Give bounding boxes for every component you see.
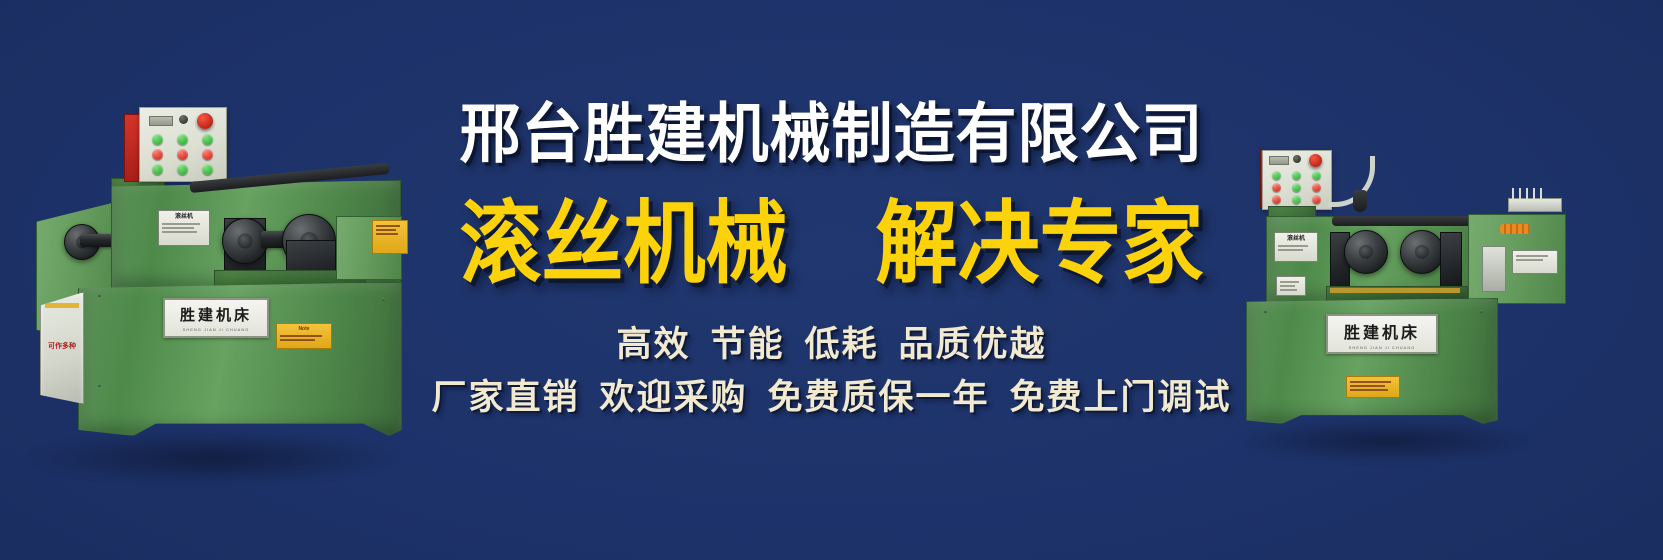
machine-left-spec-plate: 滚丝机	[158, 210, 210, 246]
machine-right-panel-button-9	[1312, 195, 1321, 204]
machine-right-warning-label	[1346, 376, 1400, 398]
machine-right-orange-connectors	[1500, 224, 1530, 234]
machine-right-spec-plate: 滚丝机	[1274, 232, 1318, 262]
machine-left-control-panel	[139, 107, 227, 182]
machine-right-panel-button-6	[1312, 183, 1321, 192]
machine-right-panel-button-1	[1272, 171, 1281, 180]
machine-left-ground-shadow	[28, 432, 398, 484]
machine-right-panel-selector-knob	[1293, 155, 1301, 163]
machine-right-head-bracket-2	[1440, 232, 1462, 290]
machine-left-cabinet-stripe	[45, 303, 79, 308]
machine-left-side-cabinet: 可作多种	[40, 292, 84, 404]
machine-right-panel-cable	[1328, 156, 1375, 207]
promotional-banner: 滚丝机 可作多种 胜建机床 SHENG JIAN JI CHUAN	[0, 0, 1663, 560]
machine-left-panel-button-6	[202, 149, 213, 160]
machine-right-roller-head-1	[1344, 230, 1388, 274]
machine-right-cable-boot	[1353, 190, 1367, 212]
machine-right-ground-shadow	[1238, 420, 1538, 462]
machine-right-panel-button-4	[1272, 183, 1281, 192]
machine-right-roller-head-2	[1400, 230, 1444, 274]
machine-left-nameplate: 胜建机床 SHENG JIAN JI CHUANG	[163, 298, 269, 338]
machine-right-bolt-2	[1480, 310, 1483, 313]
machine-right-spec-plate-title: 滚丝机	[1278, 235, 1314, 243]
machine-left-panel-button-8	[177, 164, 188, 175]
machine-left-nameplate-en: SHENG JIAN JI CHUANG	[183, 327, 250, 332]
machine-right-end-plate	[1512, 250, 1558, 274]
machine-right-feed-tray	[1508, 198, 1562, 212]
machine-left-cabinet-text: 可作多种	[41, 341, 83, 351]
machine-left-bolt-2	[98, 384, 101, 387]
machine-right-hydraulic-cylinder	[1482, 246, 1506, 292]
machine-right-panel-button-2	[1292, 171, 1301, 180]
machine-right-nameplate: 胜建机床 SHENG JIAN JI CHUANG	[1326, 314, 1438, 354]
machine-left-warning-label-title: Note	[279, 326, 329, 333]
machine-left-spec-plate-title: 滚丝机	[162, 213, 206, 221]
machine-image-right: 滚丝机 胜建机床 SHENG JIAN JI CH	[1168, 128, 1568, 448]
machine-right-control-panel	[1262, 150, 1332, 210]
machine-left-panel-button-3	[202, 134, 213, 145]
machine-left-bolt-1	[98, 294, 101, 297]
machine-right-top-rail	[1332, 216, 1484, 226]
machine-left-panel-button-2	[177, 134, 188, 145]
machine-left-panel-button-9	[202, 164, 213, 175]
machine-left-nameplate-cn: 胜建机床	[180, 304, 252, 325]
machine-left-panel-button-4	[152, 149, 163, 160]
machine-left-warning-label-body: Note	[276, 323, 332, 349]
machine-right-panel-button-8	[1292, 195, 1301, 204]
machine-right-nameplate-cn: 胜建机床	[1344, 319, 1420, 343]
machine-left-panel-button-7	[152, 164, 163, 175]
machine-right-head-table-trim	[1330, 288, 1460, 293]
machine-left-panel-emergency-stop	[197, 113, 213, 129]
machine-right-bolt-1	[1264, 310, 1267, 313]
machine-right-nameplate-en: SHENG JIAN JI CHUANG	[1349, 345, 1416, 350]
machine-right-feed-fingers	[1512, 188, 1546, 200]
machine-left-panel-button-5	[177, 149, 188, 160]
machine-right-spec-plate-secondary	[1276, 276, 1306, 296]
machine-right-panel-button-5	[1292, 183, 1301, 192]
machine-right-panel-button-3	[1312, 171, 1321, 180]
machine-right-panel-display	[1269, 156, 1289, 165]
machine-left-warning-label-top	[372, 220, 408, 254]
machine-left-panel-display	[149, 116, 173, 126]
machine-right-panel-emergency-stop	[1309, 154, 1322, 167]
machine-right-panel-button-7	[1272, 195, 1281, 204]
machine-image-left: 滚丝机 可作多种 胜建机床 SHENG JIAN JI CHUAN	[18, 92, 410, 474]
machine-left-panel-selector-knob	[179, 115, 188, 124]
machine-left-bolt-3	[382, 298, 385, 301]
machine-left-panel-button-1	[152, 134, 163, 145]
